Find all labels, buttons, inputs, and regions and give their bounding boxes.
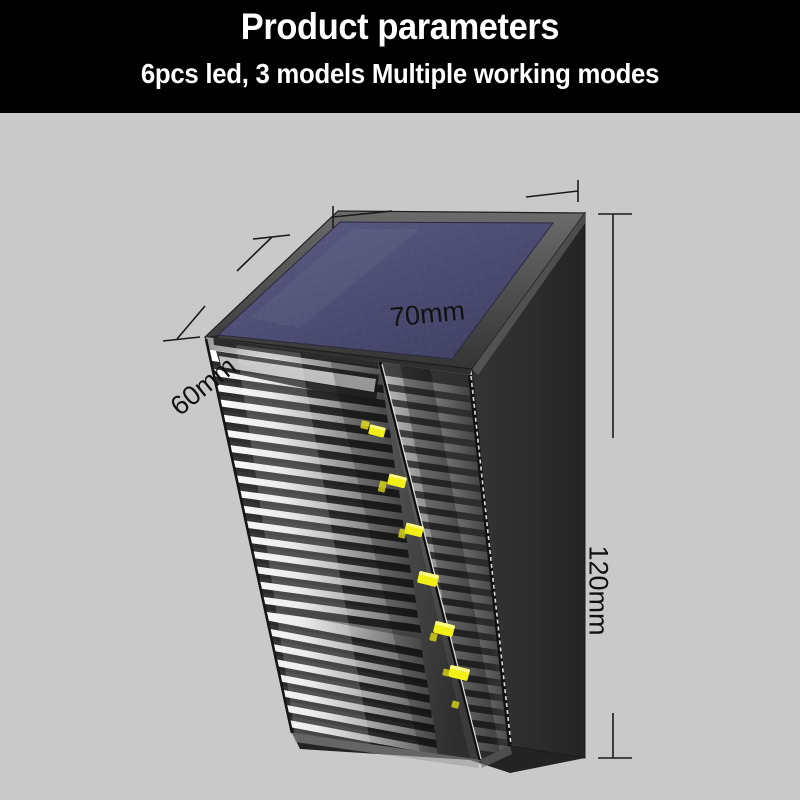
page-title: Product parameters [28,5,772,49]
dimension-120mm [598,214,632,758]
header-banner: Product parameters 6pcs led, 3 models Mu… [0,0,800,113]
page-subtitle: 6pcs led, 3 models Multiple working mode… [32,56,768,92]
dimension-label-height: 120mm [583,545,614,635]
product-scene: 70mm 60mm 120mm [0,113,800,800]
product-parameters-image: Product parameters 6pcs led, 3 models Mu… [0,0,800,800]
product-illustration [0,113,800,800]
